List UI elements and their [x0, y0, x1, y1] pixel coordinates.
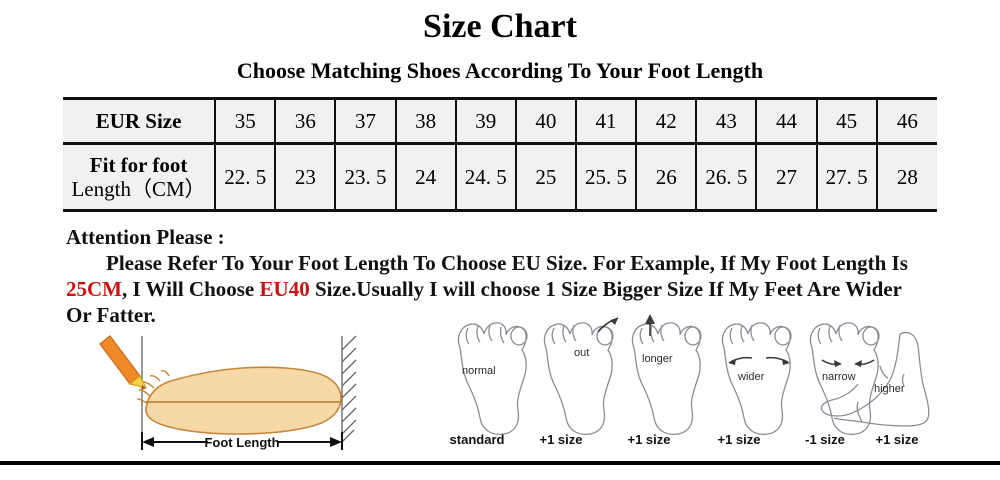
foot-normal-icon: [458, 323, 527, 435]
size-chart-page: Size Chart Choose Matching Shoes Accordi…: [0, 0, 1000, 480]
attention-highlight-foot-length: 25CM: [66, 277, 122, 301]
attention-text-b: , I Will Choose: [122, 277, 260, 301]
foot-type-diagram-group: normal out longer: [438, 312, 938, 460]
foot-narrow-inner-label: narrow: [822, 371, 856, 383]
row-header-foot-length-line2: Length（CM）: [63, 177, 214, 201]
table-row-eur-size: EUR Size 35 36 37 38 39 40 41 42 43 44 4…: [63, 99, 937, 144]
cell-len-36: 23: [275, 144, 335, 211]
foot-type-size-label-out: +1 size: [522, 432, 600, 447]
foot-length-caption: Foot Length: [204, 435, 279, 450]
foot-normal-inner-label: normal: [462, 365, 496, 377]
cell-eur-41: 41: [576, 99, 636, 144]
cell-len-38: 24: [396, 144, 456, 211]
cell-len-41: 25. 5: [576, 144, 636, 211]
pencil-icon: [100, 336, 146, 390]
size-table: EUR Size 35 36 37 38 39 40 41 42 43 44 4…: [63, 97, 937, 212]
cell-eur-43: 43: [696, 99, 756, 144]
foot-type-size-label-higher: +1 size: [858, 432, 936, 447]
cell-len-45: 27. 5: [817, 144, 877, 211]
cell-eur-39: 39: [456, 99, 516, 144]
table-row-foot-length: Fit for foot Length（CM） 22. 5 23 23. 5 2…: [63, 144, 937, 211]
cell-eur-36: 36: [275, 99, 335, 144]
cell-len-42: 26: [636, 144, 696, 211]
foot-measure-illustration: Foot Length: [96, 330, 376, 458]
cell-eur-35: 35: [215, 99, 275, 144]
foot-type-size-label-wider: +1 size: [700, 432, 778, 447]
foot-out-icon: [544, 318, 618, 434]
page-title: Size Chart: [0, 8, 1000, 46]
foot-out-inner-label: out: [574, 347, 589, 359]
foot-type-size-label-narrow: -1 size: [786, 432, 864, 447]
cell-eur-37: 37: [335, 99, 395, 144]
cell-len-37: 23. 5: [335, 144, 395, 211]
cell-eur-44: 44: [756, 99, 816, 144]
cell-len-46: 28: [877, 144, 937, 211]
attention-text-a: Please Refer To Your Foot Length To Choo…: [106, 251, 908, 275]
cell-eur-42: 42: [636, 99, 696, 144]
attention-highlight-eu-size: EU40: [260, 277, 310, 301]
row-header-foot-length-line1: Fit for foot: [63, 153, 214, 177]
cell-eur-46: 46: [877, 99, 937, 144]
cell-len-43: 26. 5: [696, 144, 756, 211]
cell-len-44: 27: [756, 144, 816, 211]
cell-eur-38: 38: [396, 99, 456, 144]
cell-len-35: 22. 5: [215, 144, 275, 211]
foot-longer-inner-label: longer: [642, 353, 673, 365]
row-header-eur-size: EUR Size: [63, 99, 215, 144]
foot-type-size-label-normal: standard: [434, 432, 520, 447]
foot-type-size-label-longer: +1 size: [610, 432, 688, 447]
bottom-divider: [0, 461, 1000, 465]
foot-longer-icon: [632, 314, 701, 434]
attention-heading: Attention Please :: [66, 224, 932, 250]
foot-wider-inner-label: wider: [737, 371, 765, 383]
wall-icon: [342, 336, 356, 442]
page-subtitle: Choose Matching Shoes According To Your …: [0, 58, 1000, 84]
row-header-foot-length: Fit for foot Length（CM）: [63, 144, 215, 211]
foot-higher-inner-label: higher: [874, 383, 905, 395]
cell-eur-40: 40: [516, 99, 576, 144]
cell-eur-45: 45: [817, 99, 877, 144]
foot-silhouette-icon: [137, 367, 341, 434]
cell-len-40: 25: [516, 144, 576, 211]
cell-len-39: 24. 5: [456, 144, 516, 211]
